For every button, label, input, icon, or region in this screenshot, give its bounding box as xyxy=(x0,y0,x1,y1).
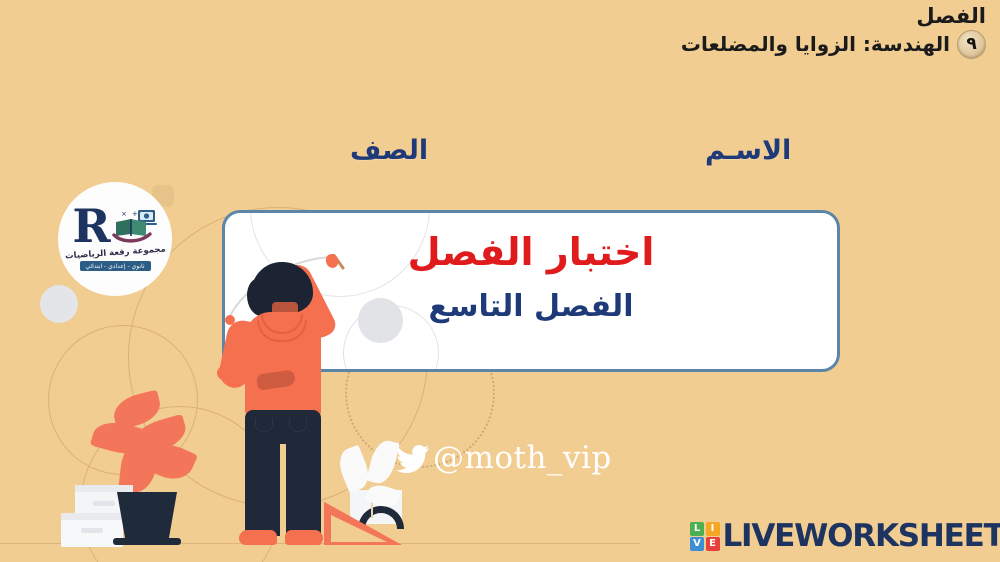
card-subtitle: الفصل التاسع xyxy=(225,287,837,326)
student-sweater-shadow xyxy=(256,369,296,390)
plant-stem xyxy=(142,443,149,495)
twitter-bird-icon xyxy=(396,444,430,473)
logo-book-laptop-icon: + × xyxy=(112,207,158,247)
lw-tile-l: L xyxy=(690,522,704,536)
lw-tile-e: E xyxy=(706,537,720,551)
drafting-tools-illustration xyxy=(300,440,410,545)
header: الفصل ٩ الهندسة: الزوايا والمضلعات xyxy=(681,4,986,59)
logo-badge-text: ثانوي - إعدادي - ابتدائي xyxy=(80,261,151,271)
chapter-number-badge: ٩ xyxy=(957,30,986,59)
worksheet-page: الفصل ٩ الهندسة: الزوايا والمضلعات الاسـ… xyxy=(0,0,1000,562)
liveworksheets-logo: L I V E LIVEWORKSHEETS xyxy=(690,521,1000,552)
sprout-leaf xyxy=(334,445,374,494)
class-field-label: الصف xyxy=(350,135,428,166)
plant-stem xyxy=(128,447,135,495)
chapter-heading-row: ٩ الهندسة: الزوايا والمضلعات xyxy=(681,30,986,59)
background-ring-bottom xyxy=(80,406,280,562)
plant-stem xyxy=(137,435,139,495)
liveworksheets-tiles: L I V E xyxy=(690,522,720,552)
twitter-handle-text: @moth_vip xyxy=(433,443,612,474)
box-lid xyxy=(61,513,123,520)
liveworksheets-wordmark: LIVEWORKSHEETS xyxy=(723,521,1000,552)
logo-monogram-row: R + × xyxy=(72,205,157,247)
plant-leaf xyxy=(128,414,190,458)
svg-text:×: × xyxy=(121,210,127,218)
plant-leaf xyxy=(110,390,164,431)
plant-illustration xyxy=(75,395,205,545)
sprout-leaf xyxy=(365,482,402,511)
background-ring-medium xyxy=(48,325,198,475)
sprout-stem xyxy=(371,456,373,518)
brand-logo: R + × مجموعة رفعة الرياضيات ثانوي - إعدا… xyxy=(58,182,172,296)
chapter-word: الفصل xyxy=(681,4,986,29)
title-card: اختبار الفصل الفصل التاسع xyxy=(222,210,840,372)
storage-box-top xyxy=(75,485,133,521)
card-title: اختبار الفصل xyxy=(225,229,837,277)
set-square-icon xyxy=(324,500,402,545)
protractor-card xyxy=(350,490,402,524)
chapter-subtitle: الهندسة: الزوايا والمضلعات xyxy=(681,32,950,56)
card-text-block: اختبار الفصل الفصل التاسع xyxy=(225,213,837,326)
box-handle xyxy=(81,528,103,533)
box-lid xyxy=(75,485,133,492)
set-square-cutout xyxy=(331,512,387,542)
storage-box-bottom xyxy=(61,513,123,547)
lw-tile-v: V xyxy=(690,537,704,551)
protractor-icon xyxy=(358,506,404,529)
student-pocket-right xyxy=(289,418,307,432)
student-pocket-left xyxy=(255,418,273,432)
box-handle xyxy=(93,501,115,506)
student-leg-gap xyxy=(280,444,286,538)
plant-pot xyxy=(117,492,177,540)
plant-leaf xyxy=(90,416,150,460)
plant-leaf xyxy=(118,435,160,494)
name-field-label: الاسـم xyxy=(705,135,791,166)
svg-text:+: + xyxy=(132,210,138,218)
plant-leaf xyxy=(144,438,198,487)
ground-line xyxy=(0,543,640,544)
lw-tile-i: I xyxy=(706,522,720,536)
twitter-credit: @moth_vip xyxy=(396,443,612,474)
sprout-leaf xyxy=(366,438,400,486)
student-pants xyxy=(245,410,321,536)
logo-monogram-letter: R xyxy=(72,205,110,247)
ruler-icon xyxy=(310,450,321,545)
background-disc-grey xyxy=(40,285,78,323)
